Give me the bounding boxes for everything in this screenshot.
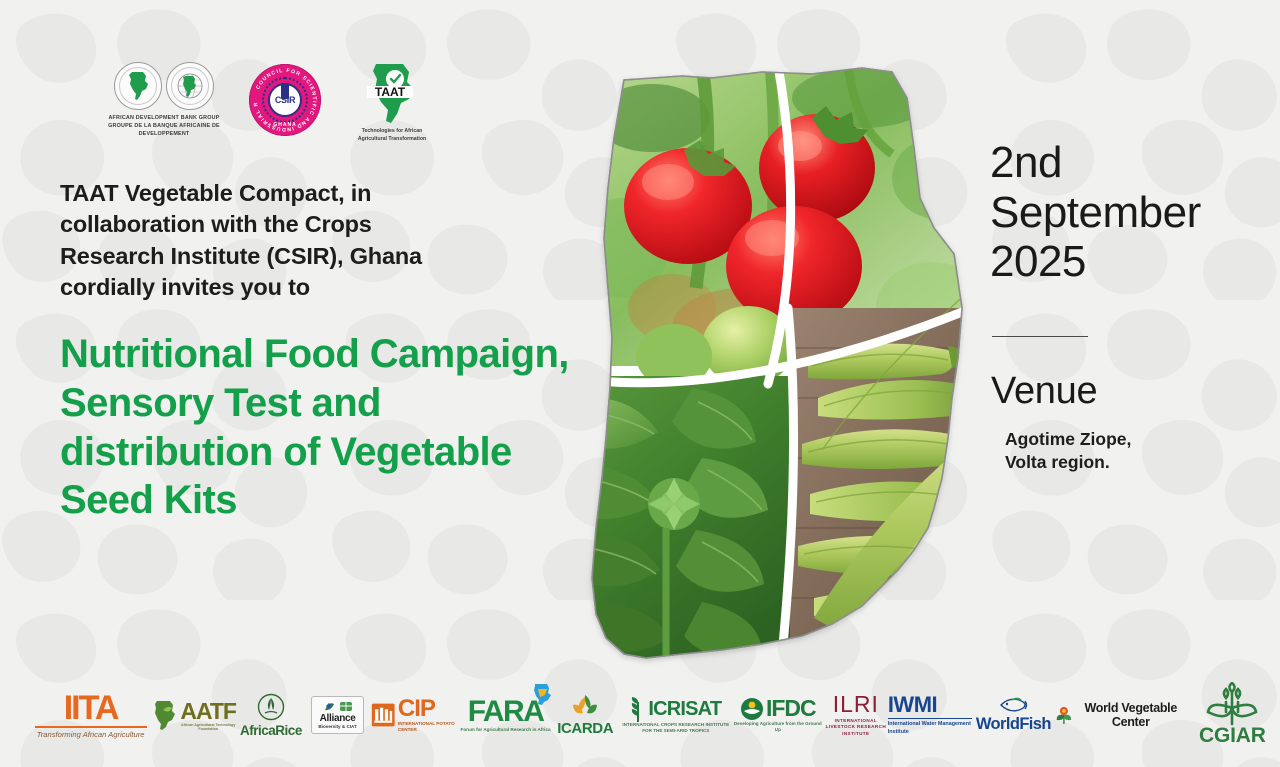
taat-africa-icon: TAAT [361, 62, 423, 124]
partner-logo-icarda: ICARDA [551, 693, 620, 737]
aatf-tagline: African Agricultural Technology Foundati… [179, 723, 237, 731]
venue-address: Agotime Ziope, Volta region. [1005, 428, 1131, 474]
partner-logo-cgiar: CGIAR [1185, 682, 1280, 748]
aatf-wordmark: AATF [180, 700, 236, 723]
worldfish-fish-icon [998, 696, 1028, 714]
partner-logo-cip: CIP INTERNATIONAL POTATO CENTER [371, 697, 461, 733]
partner-logo-alliance: Alliance Bioversity & CIAT [305, 696, 371, 734]
cip-tagline: INTERNATIONAL POTATO CENTER [398, 721, 461, 733]
worldfish-wordmark: WorldFish [976, 715, 1051, 734]
africarice-seal-icon [257, 693, 285, 721]
ghana-map-collage [562, 58, 1012, 682]
partner-logo-strip: IITA Transforming African Agriculture AA… [0, 671, 1280, 759]
cgiar-wordmark: CGIAR [1199, 724, 1266, 748]
okra-photo [790, 292, 1012, 676]
afdb-africa-icon [114, 62, 162, 110]
svg-text:TAAT: TAAT [375, 85, 406, 99]
alliance-wordmark: Alliance [320, 713, 356, 724]
iita-tagline: Transforming African Agriculture [37, 730, 145, 739]
cgiar-wheat-icon [1206, 682, 1258, 726]
event-date-year: 2025 [990, 237, 1240, 287]
section-divider [992, 336, 1088, 337]
venue-label: Venue [991, 370, 1097, 413]
afdb-logo: AFRICAN DEVELOPMENT BANK GROUP GROUPE DE… [105, 62, 223, 138]
iita-wordmark: IITA [64, 691, 118, 725]
alliance-tagline: Bioversity & CIAT [318, 724, 356, 730]
invitation-intro-text: TAAT Vegetable Compact, in collaboration… [60, 178, 480, 303]
partner-logo-ifdc: IFDC Developing Agriculture from the Gro… [732, 697, 824, 733]
partner-logo-fara: FARA Forum for Agricultural Research in … [461, 697, 551, 733]
ifdc-tagline: Developing Agriculture from the Ground U… [732, 721, 824, 733]
ifdc-emblem-icon [740, 697, 764, 721]
partner-logo-africarice: AfricaRice [237, 693, 305, 738]
icrisat-plant-icon [630, 696, 646, 722]
cip-emblem-icon [371, 700, 395, 730]
partner-logo-iwmi: IWMI International Water Management Inst… [888, 694, 972, 736]
aatf-africa-icon [151, 700, 177, 730]
csir-logo: COUNCIL FOR SCIENTIFIC AND INDUSTRIAL RE… [249, 64, 321, 136]
cip-wordmark: CIP [398, 697, 435, 721]
taat-caption: Technologies for African Agricultural Tr… [349, 128, 435, 144]
venue-line-2: Volta region. [1005, 451, 1131, 474]
top-logo-row: AFRICAN DEVELOPMENT BANK GROUP GROUPE DE… [105, 62, 435, 144]
event-date-day: 2nd [990, 138, 1240, 188]
afdb-globe-icon [166, 62, 214, 110]
icarda-leaf-icon [569, 693, 601, 719]
iwmi-wordmark: IWMI [888, 694, 937, 716]
iwmi-tagline: International Water Management Institute [888, 721, 972, 736]
icrisat-wordmark: ICRISAT [648, 699, 721, 719]
worldveg-wordmark: World Vegetable Center [1077, 701, 1185, 729]
partner-logo-worldfish: WorldFish [972, 696, 1055, 734]
icrisat-tagline: INTERNATIONAL CROPS RESEARCH INSTITUTE F… [620, 722, 732, 734]
taat-logo: TAAT Technologies for African Agricultur… [349, 62, 435, 144]
event-date: 2nd September 2025 [990, 138, 1240, 287]
afdb-caption-en: AFRICAN DEVELOPMENT BANK GROUP [105, 115, 223, 123]
csir-flask-icon [281, 83, 289, 99]
icarda-wordmark: ICARDA [557, 720, 613, 737]
page-title: Nutritional Food Campaign, Sensory Test … [60, 330, 590, 525]
svg-text:• GHANA •: • GHANA • [268, 122, 301, 128]
afdb-caption-fr: GROUPE DE LA BANQUE AFRICAINE DE DEVELOP… [105, 123, 223, 139]
ifdc-wordmark: IFDC [766, 697, 816, 720]
venue-line-1: Agotime Ziope, [1005, 428, 1131, 451]
ilri-tagline: INTERNATIONAL LIVESTOCK RESEARCH INSTITU… [824, 718, 888, 737]
ilri-wordmark: ILRI [833, 693, 879, 716]
partner-logo-ilri: ILRI INTERNATIONAL LIVESTOCK RESEARCH IN… [824, 693, 888, 737]
event-date-month: September [990, 188, 1240, 238]
partner-logo-icrisat: ICRISAT INTERNATIONAL CROPS RESEARCH INS… [620, 696, 732, 734]
partner-logo-worldveg: World Vegetable Center [1055, 701, 1185, 729]
partner-logo-iita: IITA Transforming African Agriculture [30, 691, 151, 739]
alliance-mark-icon [321, 700, 355, 713]
partner-logo-aatf: AATF African Agricultural Technology Fou… [151, 700, 237, 731]
worldveg-plant-icon [1055, 703, 1073, 727]
africarice-wordmark: AfricaRice [240, 723, 302, 738]
